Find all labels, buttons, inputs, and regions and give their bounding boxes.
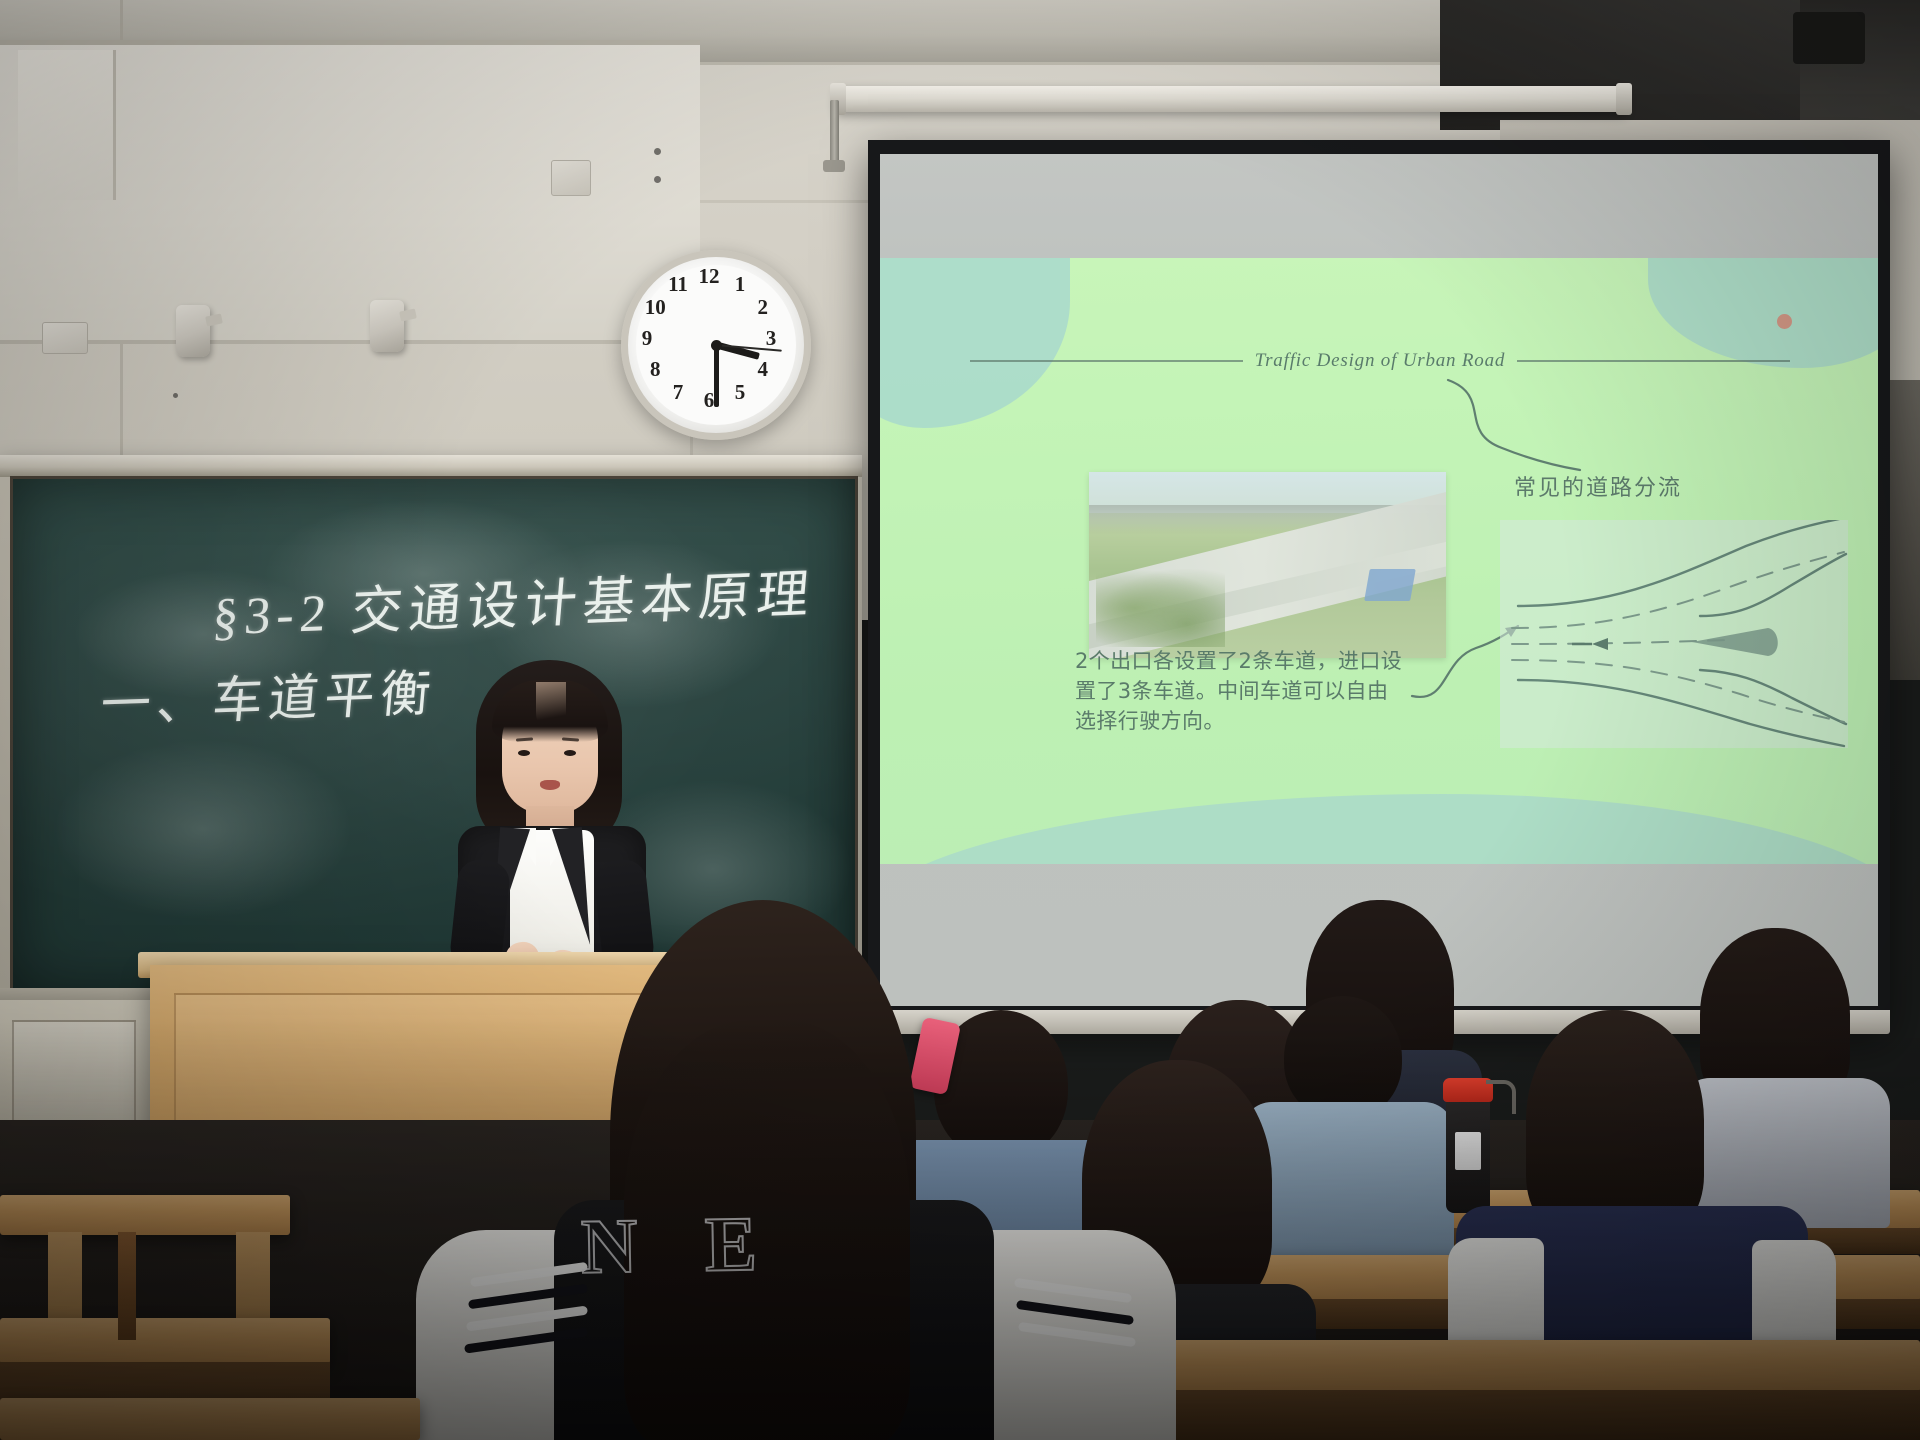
wall-socket-plate: [42, 322, 88, 354]
clock-center-pin: [711, 340, 722, 351]
photo-vegetation: [1096, 569, 1225, 647]
bench-foreground-left: [0, 1398, 420, 1440]
lane-diverge-svg: [1500, 520, 1848, 748]
student-foreground: N E: [458, 900, 1148, 1440]
water-bottle-label: [1455, 1132, 1481, 1170]
slide-decor-blob-topleft: [880, 258, 1070, 428]
bench-left-divider: [118, 1232, 136, 1340]
chalkboard-chalk-rail: [0, 455, 862, 477]
screen-pull-knob[interactable]: [823, 160, 845, 172]
lane-diverge-diagram: [1500, 520, 1848, 748]
ceiling-duct: [1793, 12, 1865, 64]
clock-numeral-3: 3: [759, 326, 783, 350]
clock-numeral-7: 7: [666, 380, 690, 404]
slide-decor-blob-bottom: [880, 794, 1878, 864]
slide-decor-dot: [1777, 314, 1792, 329]
clock-numeral-2: 2: [751, 295, 775, 319]
slide-header-rule-left: [970, 360, 1243, 362]
instructor-eye-right: [564, 750, 576, 756]
slide-road-photo: [1089, 472, 1446, 658]
clock-numeral-10: 10: [643, 295, 667, 319]
wall-fixing-dot: [654, 148, 661, 155]
chalk-smudge: [53, 739, 353, 919]
wall-fixing-dot: [654, 176, 661, 183]
clock-numeral-11: 11: [666, 272, 690, 296]
slide-callout-label: 常见的道路分流: [1514, 470, 1682, 502]
slide-header-rule-right: [1517, 360, 1790, 362]
clock-numeral-12: 12: [697, 264, 721, 288]
clock-numeral-4: 4: [751, 357, 775, 381]
slide-body-text: 2个出口各设置了2条车道，进口设置了3条车道。中间车道可以自由选择行驶方向。: [1075, 647, 1405, 736]
wall-whiteboard-panel: [0, 40, 700, 344]
slide-title: Traffic Design of Urban Road: [1255, 350, 1505, 372]
wall-fixing-dot: [173, 393, 178, 398]
jacket-varsity-letters: N E: [555, 1198, 807, 1292]
slide-header: Traffic Design of Urban Road: [970, 350, 1790, 372]
chalkboard-subheading: 一、车道平衡: [98, 653, 440, 737]
clock-numeral-1: 1: [728, 272, 752, 296]
instructor-eye-left: [518, 750, 530, 756]
projector-screen-housing: [836, 86, 1626, 112]
photo-blue-structure: [1365, 569, 1417, 601]
projection-screen-surface: Traffic Design of Urban Road 常见的道路分流 2个出…: [880, 154, 1878, 1006]
clock-numeral-5: 5: [728, 380, 752, 404]
wall-socket-plate: [551, 160, 591, 196]
clock-numeral-9: 9: [635, 326, 659, 350]
bench-left-empty-2: [0, 1318, 330, 1364]
panel-top-line: [0, 40, 700, 45]
presentation-slide: Traffic Design of Urban Road 常见的道路分流 2个出…: [880, 258, 1878, 864]
instructor-fringe-part: [536, 682, 566, 732]
classroom-photo: 121234567891011 §3-2 交通设计基本原理 一、车道平衡: [0, 0, 1920, 1440]
wall-clock: 121234567891011: [621, 250, 811, 440]
wall-speaker-right: [370, 300, 404, 352]
slide-connector-curve-top: [1440, 374, 1590, 484]
clock-numeral-8: 8: [643, 357, 667, 381]
chalkboard-heading: §3-2 交通设计基本原理: [210, 551, 818, 649]
instructor-mouth: [540, 780, 560, 790]
bench-left-empty-1: [0, 1195, 290, 1235]
wall-speaker-left: [176, 305, 210, 357]
clock-minute-hand: [714, 345, 719, 407]
panel-notch: [18, 50, 116, 200]
housing-endcap-right: [1616, 83, 1632, 115]
student-right: [1480, 1010, 1780, 1310]
